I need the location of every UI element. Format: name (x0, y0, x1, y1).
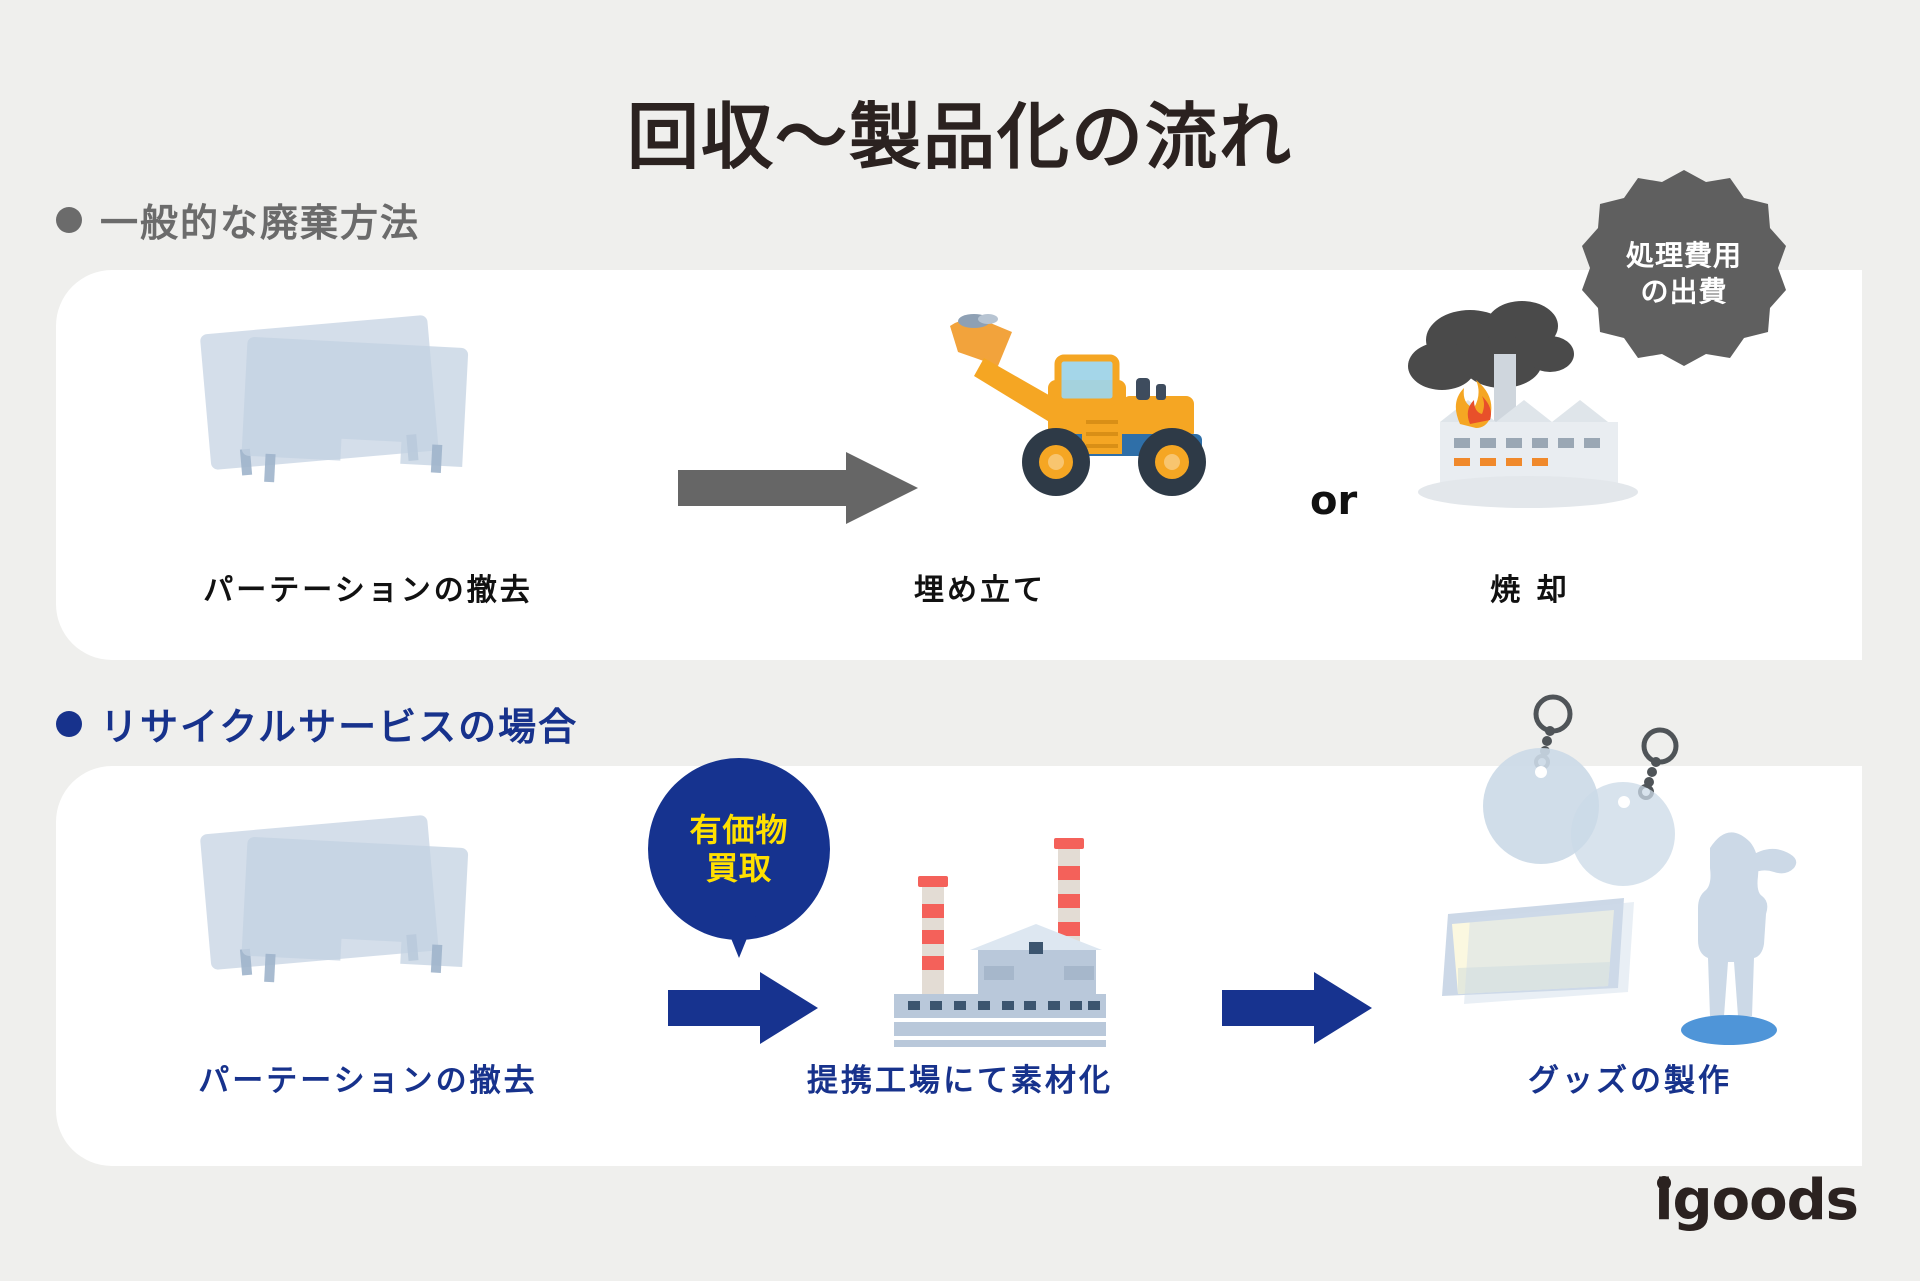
badge-text: 処理費用 の出費 (1578, 168, 1790, 380)
navy-right-arrow-icon (668, 972, 818, 1044)
gray-right-arrow-icon (678, 452, 918, 524)
badge-line-1: 処理費用 (1626, 238, 1742, 274)
caption-goods-production: グッズの製作 (1440, 1055, 1820, 1100)
wheel-loader-icon (940, 310, 1230, 510)
callout-bubble-valuable-purchase: 有価物 買取 (648, 758, 830, 940)
section-heading-recycle-label: リサイクルサービスの場合 (100, 696, 578, 751)
status-badge-disposal-cost: 処理費用 の出費 (1578, 168, 1790, 380)
caption-partition-removal-recycle: パーテーションの撤去 (118, 1055, 618, 1100)
section-heading-general: 一般的な廃棄方法 (56, 192, 420, 247)
caption-material-processing: 提携工場にて素材化 (690, 1055, 1230, 1100)
caption-incineration: 焼 却 (1380, 565, 1680, 609)
infographic-root: 回収〜製品化の流れ 一般的な廃棄方法 パーテーションの撤去 (0, 0, 1920, 1281)
table-tent-card-icon (1442, 898, 1634, 1004)
bullet-icon (56, 207, 82, 233)
partner-factory-icon (860, 832, 1160, 1047)
bubble-line-1: 有価物 (689, 811, 788, 849)
section-heading-recycle: リサイクルサービスの場合 (56, 696, 578, 751)
logo-text: igoods (1654, 1168, 1858, 1233)
bubble-line-2: 買取 (706, 849, 772, 887)
acrylic-partition-icon (198, 300, 498, 500)
acrylic-partition-icon (198, 800, 498, 1000)
acrylic-stand-figure-icon (1681, 832, 1796, 1045)
brand-logo: igoods (1654, 1168, 1858, 1233)
section-heading-general-label: 一般的な廃棄方法 (100, 192, 420, 247)
keychain-icon (1571, 730, 1676, 886)
bullet-icon (56, 711, 82, 737)
or-connector-label: or (1310, 478, 1357, 524)
caption-partition-removal-general: パーテーションの撤去 (118, 565, 618, 609)
caption-landfill: 埋め立て (830, 565, 1130, 609)
acrylic-goods-icon (1418, 686, 1818, 1056)
bubble-text: 有価物 買取 (648, 758, 830, 940)
navy-right-arrow-icon (1222, 972, 1372, 1044)
badge-line-2: の出費 (1640, 274, 1727, 310)
